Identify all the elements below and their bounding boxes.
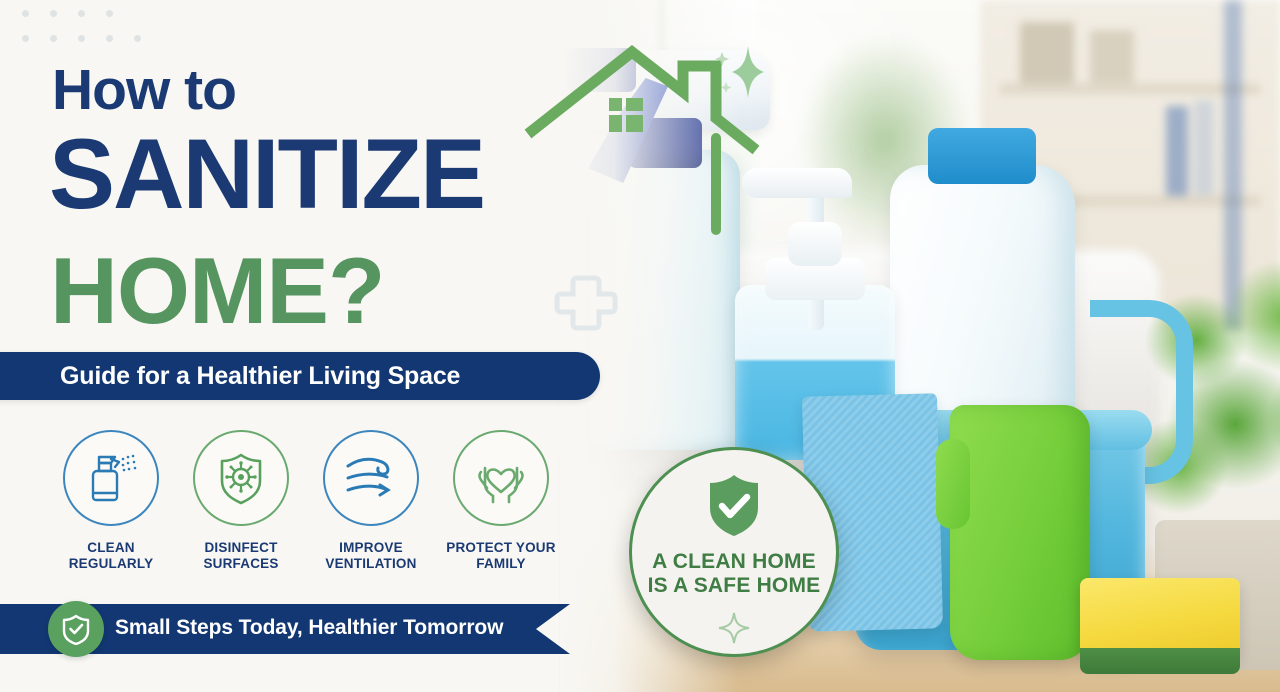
- feature-item-protect-your-family[interactable]: PROTECT YOUR FAMILY: [436, 430, 566, 573]
- infographic-banner: How to SANITIZE HOME? Guide for a Health…: [0, 0, 1280, 692]
- feature-label: PROTECT YOUR FAMILY: [446, 540, 555, 573]
- hands-heart-icon: [472, 450, 530, 506]
- shield-virus-icon: [213, 449, 269, 507]
- soap-dispenser-pump: [788, 222, 842, 266]
- sponge-scrub-pad: [1080, 648, 1240, 674]
- detergent-jug-cap: [928, 128, 1036, 184]
- subtitle-bar: Guide for a Healthier Living Space: [0, 352, 600, 400]
- headline-line-3: HOME?: [50, 244, 384, 338]
- feature-item-disinfect-surfaces[interactable]: DISINFECT SURFACES: [176, 430, 306, 573]
- spray-bottle-icon: [81, 449, 141, 507]
- feature-item-clean-regularly[interactable]: CLEAN REGULARLY: [46, 430, 176, 573]
- dot-grid-decoration: [22, 10, 162, 60]
- stamp-line-2: IS A SAFE HOME: [648, 574, 821, 598]
- sparkle-icon: [712, 42, 766, 102]
- airflow-wind-icon: [342, 453, 400, 503]
- medical-cross-icon: [553, 272, 619, 334]
- feature-list: CLEAN REGULARLY: [46, 430, 566, 573]
- feature-icon-ring: [453, 430, 549, 526]
- shield-check-icon: [61, 613, 91, 645]
- feature-icon-ring: [323, 430, 419, 526]
- feature-icon-ring: [193, 430, 289, 526]
- ribbon-text: Small Steps Today, Healthier Tomorrow: [115, 616, 503, 640]
- feature-label: DISINFECT SURFACES: [203, 540, 278, 573]
- shield-check-icon: [702, 472, 766, 538]
- feature-item-improve-ventilation[interactable]: IMPROVE VENTILATION: [306, 430, 436, 573]
- rubber-glove: [950, 405, 1090, 660]
- ribbon-shield-badge: [48, 601, 104, 657]
- stamp-line-1: A CLEAN HOME: [652, 550, 816, 574]
- subtitle-text: Guide for a Healthier Living Space: [60, 362, 460, 391]
- feature-icon-ring: [63, 430, 159, 526]
- headline-line-2: SANITIZE: [49, 124, 484, 223]
- clean-home-stamp: A CLEAN HOME IS A SAFE HOME: [629, 447, 839, 657]
- feature-label: CLEAN REGULARLY: [69, 540, 154, 573]
- feature-label: IMPROVE VENTILATION: [325, 540, 416, 573]
- headline-line-1: How to: [52, 62, 236, 119]
- sparkle-icon: [717, 611, 751, 645]
